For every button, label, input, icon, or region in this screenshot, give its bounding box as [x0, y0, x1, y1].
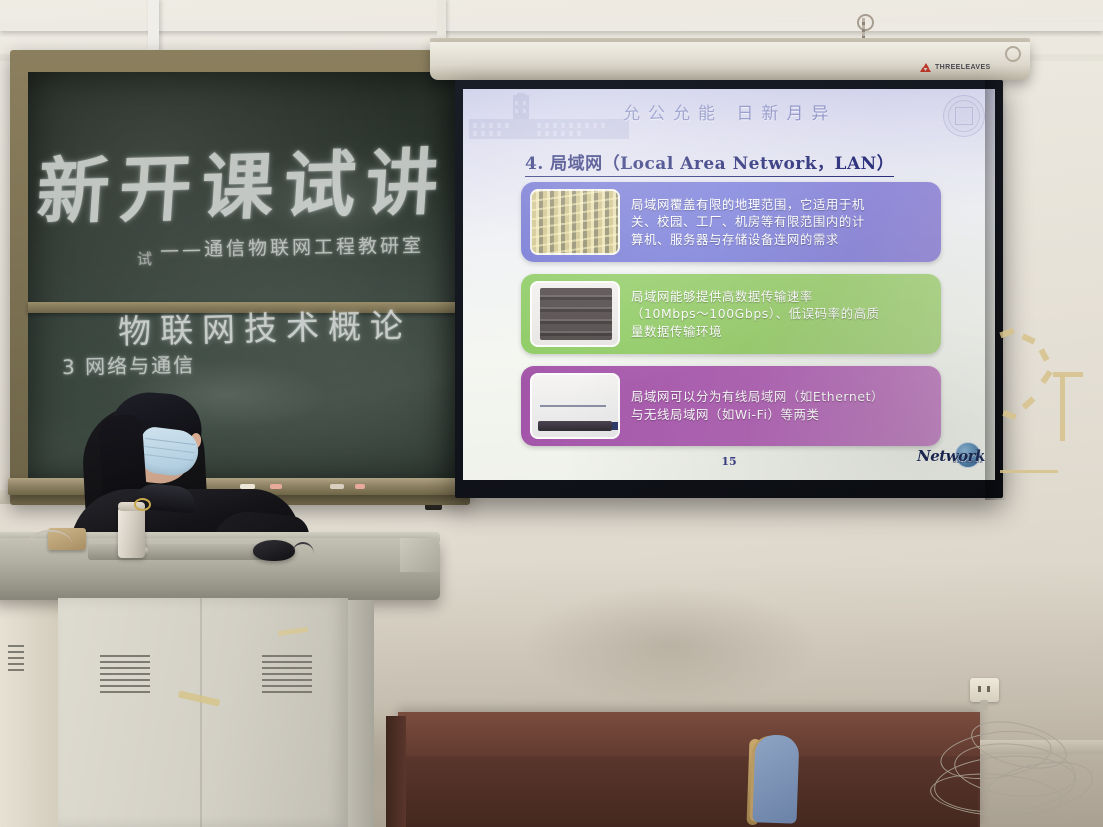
bullet-line: 与无线局域网（如Wi-Fi）等两类: [631, 406, 884, 424]
blackboard-divider: [28, 302, 456, 313]
projector-brand-text: THREELEAVES: [935, 64, 991, 71]
bullet-line: 局域网能够提供高数据传输速率: [631, 288, 880, 306]
slide-page-number: 15: [463, 455, 995, 468]
podium-vent-slots: [120, 655, 150, 693]
cable-bundle: [930, 712, 1103, 827]
classroom-photo-scene: 新开课试讲 ——通信物联网工程教研室 试 物联网技术概论 3 网络与通信 THR…: [0, 0, 1103, 827]
podium-side-panel: [348, 600, 374, 827]
student-chair: [748, 735, 806, 827]
thermos-handle-icon[interactable]: [134, 498, 151, 511]
cabinet-vent-slots: [8, 645, 24, 675]
wall-power-socket[interactable]: [970, 678, 999, 702]
podium-control-panel[interactable]: [88, 544, 268, 560]
slide-bullet-box: 局域网覆盖有限的地理范围，它适用于机 关、校园、工厂、机房等有限范围内的计 算机…: [521, 182, 941, 262]
screen-pull-hook-icon[interactable]: [1005, 46, 1021, 62]
chalk-piece[interactable]: [330, 484, 344, 489]
tape-residue: [1053, 372, 1083, 377]
chalk-smudge: [250, 150, 420, 240]
slide-bullet-text: 局域网覆盖有限的地理范围，它适用于机 关、校园、工厂、机房等有限范围内的计 算机…: [631, 196, 865, 249]
desk-front-panel: [400, 756, 978, 827]
chalk-piece[interactable]: [355, 484, 365, 489]
screen-side-shadow: [985, 80, 1007, 500]
university-seal-watermark: [943, 95, 985, 137]
projector-brand-label: THREELEAVES: [920, 63, 991, 72]
slide-bullet-box: 局域网可以分为有线局域网（如Ethernet） 与无线局域网（如Wi-Fi）等两…: [521, 366, 941, 446]
bullet-line: （10Mbps～100Gbps）、低误码率的高质: [631, 305, 880, 323]
rack-switch-icon: [530, 281, 620, 347]
tape-residue: [1060, 375, 1065, 441]
bullet-line: 算机、服务器与存储设备连网的需求: [631, 231, 865, 249]
ceiling-conduit-horizontal: [0, 22, 1103, 31]
network-logo: Network MULTIMEDIA: [917, 441, 983, 471]
tape-residue: [1000, 470, 1058, 473]
slide-title: 4. 局域网（Local Area Network，LAN）: [525, 149, 894, 177]
bullet-line: 量数据传输环境: [631, 323, 880, 341]
thermos-flask[interactable]: [118, 506, 145, 558]
ceiling-hook-icon: [857, 14, 874, 31]
slide-motto: 允公允能 日新月异: [623, 99, 836, 124]
wireless-router-icon: [530, 373, 620, 439]
network-logo-sub: MULTIMEDIA: [953, 459, 983, 464]
desk-top-surface: [398, 712, 980, 756]
bullet-line: 关、校园、工厂、机房等有限范围内的计: [631, 213, 865, 231]
patch-panel-icon: [530, 189, 620, 255]
power-plug[interactable]: [980, 700, 988, 710]
podium-vent-slots: [282, 655, 312, 693]
desk-left-edge: [386, 716, 406, 827]
slide-header: 允公允能 日新月异: [463, 89, 995, 141]
podium-door-seam: [200, 598, 202, 827]
slide-bullet-box: 局域网能够提供高数据传输速率 （10Mbps～100Gbps）、低误码率的高质 …: [521, 274, 941, 354]
bullet-line: 局域网可以分为有线局域网（如Ethernet）: [631, 388, 884, 406]
bullet-line: 局域网覆盖有限的地理范围，它适用于机: [631, 196, 865, 214]
podium-right-corner: [400, 538, 440, 572]
projector-screen-housing: [430, 42, 1030, 80]
presentation-slide: 允公允能 日新月异 4. 局域网（Local Area Network，LAN）…: [463, 89, 995, 480]
slide-bullet-text: 局域网可以分为有线局域网（如Ethernet） 与无线局域网（如Wi-Fi）等两…: [631, 388, 884, 423]
slide-bullet-text: 局域网能够提供高数据传输速率 （10Mbps～100Gbps）、低误码率的高质 …: [631, 288, 880, 341]
computer-mouse[interactable]: [253, 540, 295, 561]
door-frame: [0, 560, 62, 827]
projection-screen: 允公允能 日新月异 4. 局域网（Local Area Network，LAN）…: [455, 80, 1003, 498]
wall-stain: [520, 585, 820, 705]
chair-backrest: [752, 734, 799, 823]
three-leaves-logo-icon: [920, 63, 931, 72]
campus-building-watermark: [469, 93, 629, 141]
